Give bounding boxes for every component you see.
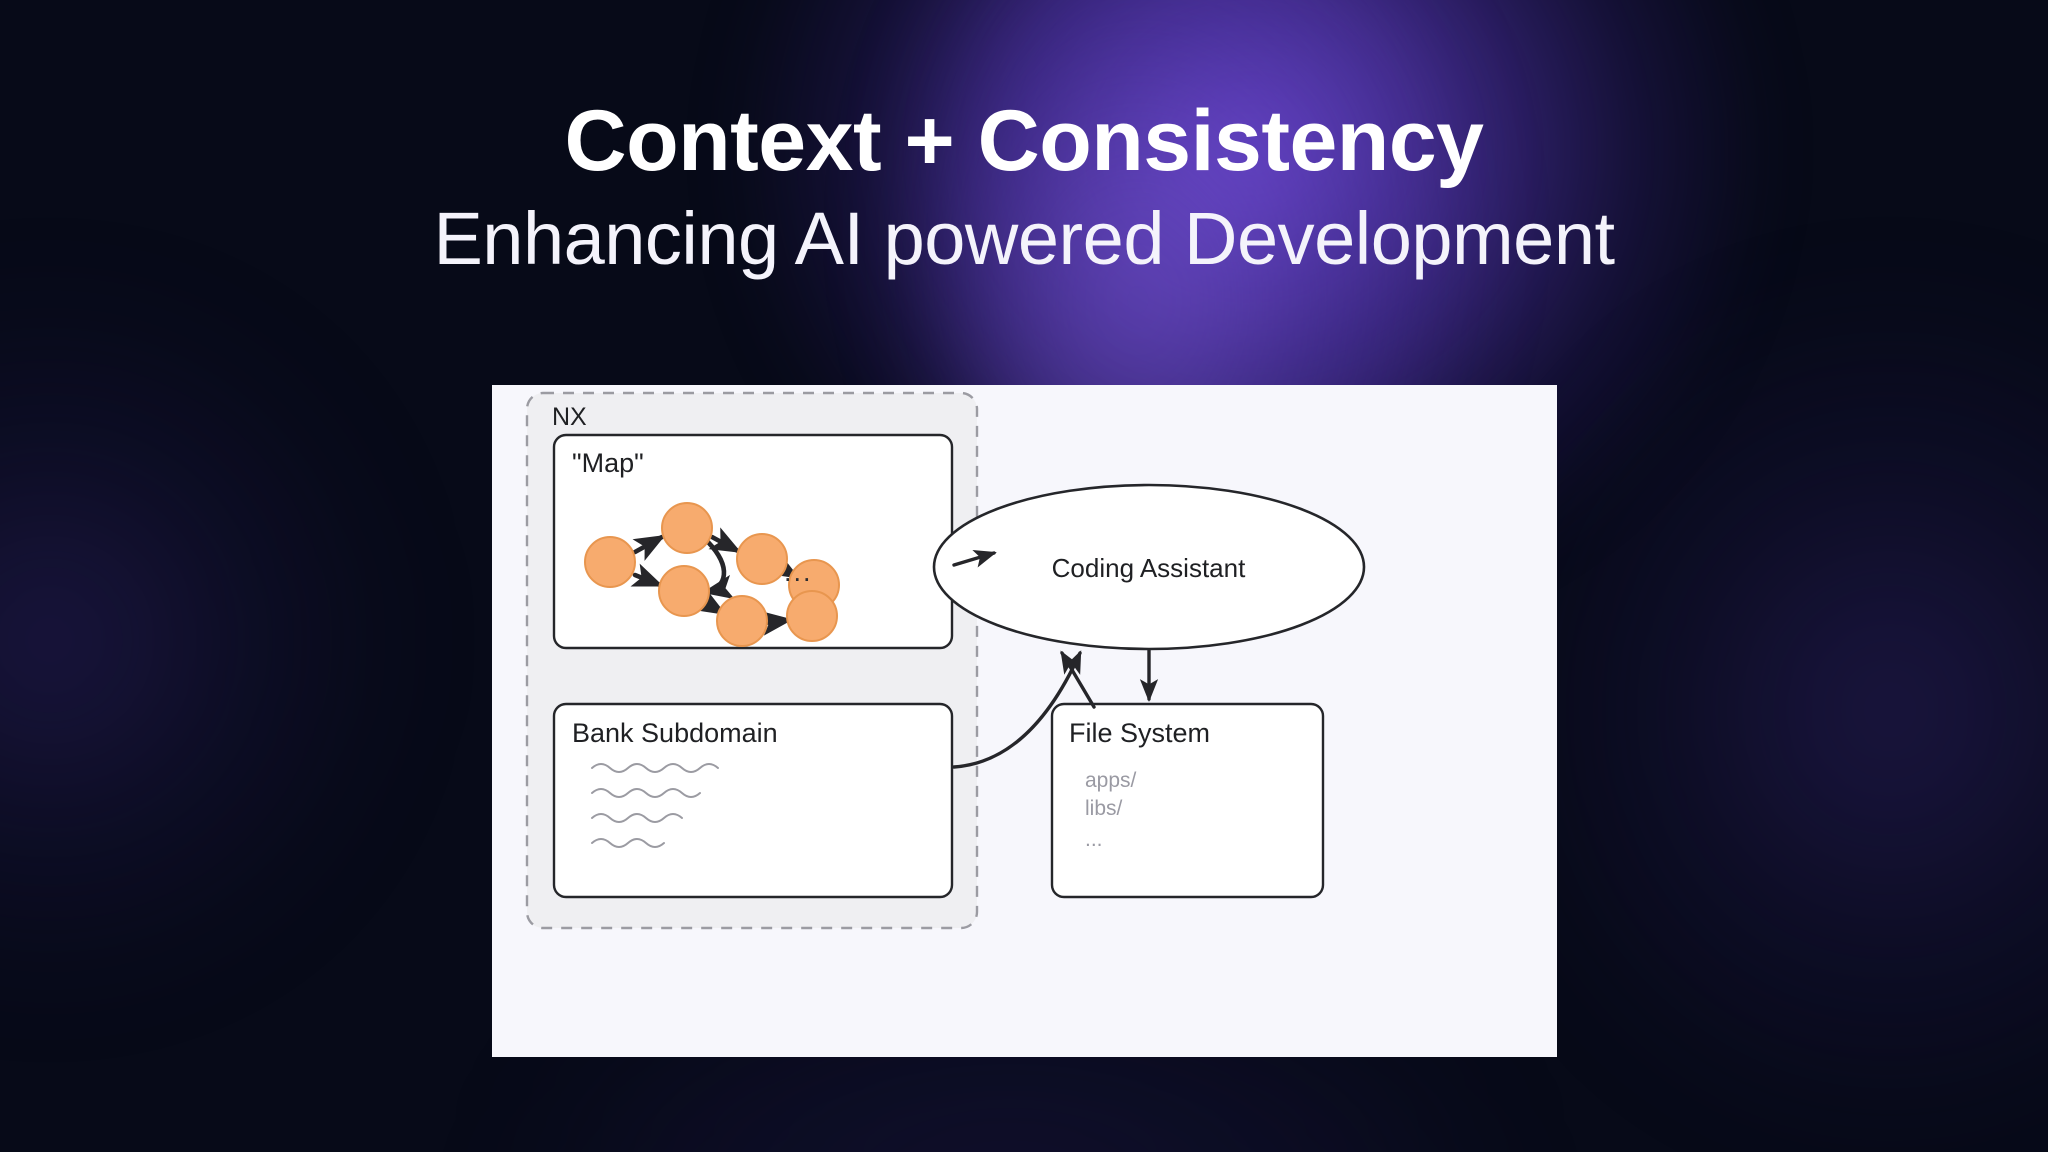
slide-heading: Context + Consistency Enhancing AI power…	[0, 96, 2048, 280]
purple-glow-left	[0, 330, 360, 950]
bank-subdomain-label: Bank Subdomain	[572, 718, 778, 749]
map-card-label: "Map"	[572, 448, 644, 479]
map-node-n7	[787, 591, 837, 641]
map-node-n6	[717, 596, 767, 646]
edge-n6-n7	[765, 620, 789, 623]
map-node-n5	[659, 566, 709, 616]
diagram-panel: NX "Map" ... Bank Subdomain File System …	[492, 385, 1557, 1057]
presentation-slide: Context + Consistency Enhancing AI power…	[0, 0, 2048, 1152]
file-system-entry: ...	[1085, 828, 1103, 852]
slide-subtitle: Enhancing AI powered Development	[0, 198, 2048, 279]
map-node-n2	[662, 503, 712, 553]
nx-container-label: NX	[552, 403, 587, 432]
slide-title: Context + Consistency	[0, 96, 2048, 186]
map-node-n3	[737, 534, 787, 584]
file-system-entry: libs/	[1085, 797, 1122, 821]
map-node-n1	[585, 537, 635, 587]
map-graph-ellipsis: ...	[784, 557, 813, 588]
file-system-entry: apps/	[1085, 769, 1136, 793]
coding-assistant-label: Coding Assistant	[962, 553, 1335, 584]
file-system-label: File System	[1069, 718, 1210, 749]
purple-glow-right	[1540, 330, 2048, 1090]
